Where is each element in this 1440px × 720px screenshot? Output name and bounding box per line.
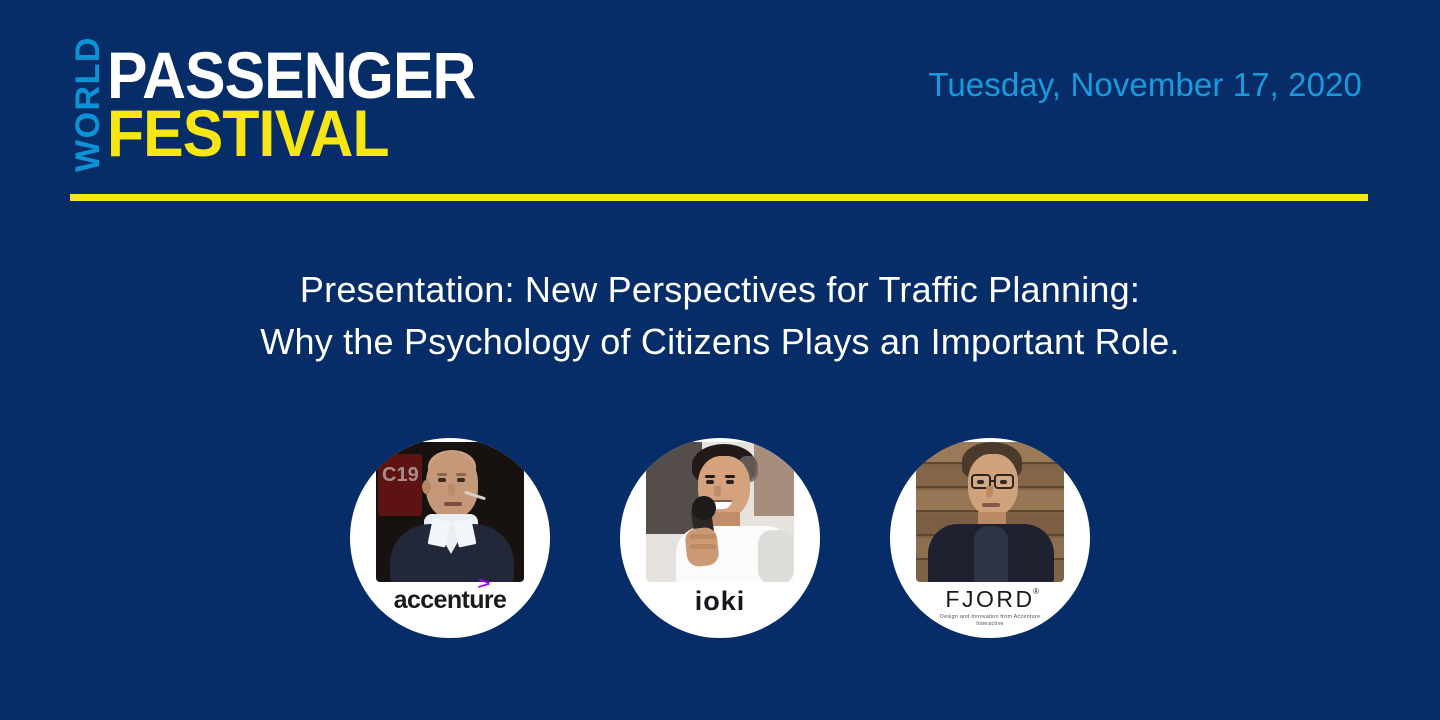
- speaker-card-fjord: FJORD ® Design and Innovation from Accen…: [890, 438, 1090, 638]
- logo-word-world: WORLD: [70, 34, 106, 174]
- portrait-nose: [714, 486, 721, 497]
- portrait-nose: [986, 486, 993, 498]
- portrait-finger-1: [690, 534, 716, 539]
- ioki-logo: ioki: [695, 588, 746, 615]
- portrait-brow-left: [437, 473, 447, 476]
- logo-word-festival: FESTIVAL: [107, 106, 476, 160]
- stage-backdrop-text: C19: [382, 464, 419, 487]
- photo-background-warm: [754, 442, 794, 516]
- brand-logo-area-accenture: accenture >: [350, 582, 550, 638]
- portrait-mouth: [982, 503, 1000, 507]
- brand-logo-area-fjord: FJORD ® Design and Innovation from Accen…: [890, 582, 1090, 638]
- portrait-brow-left: [705, 475, 715, 478]
- portrait-eye-right: [726, 480, 734, 484]
- portrait-eye-left: [977, 480, 984, 484]
- speaker-photo-fjord: [916, 442, 1064, 582]
- portrait-tshirt: [974, 526, 1008, 582]
- portrait-eye-right: [1000, 480, 1007, 484]
- portrait-eye-left: [706, 480, 714, 484]
- speaker-card-ioki: ioki: [620, 438, 820, 638]
- portrait-ear: [422, 480, 431, 494]
- speaker-avatar-row: C19 accenture >: [0, 438, 1440, 638]
- presentation-title: Presentation: New Perspectives for Traff…: [0, 264, 1440, 368]
- portrait-brow-right: [456, 473, 466, 476]
- event-slide: WORLD PASSENGER FESTIVAL Tuesday, Novemb…: [0, 0, 1440, 720]
- portrait-shirt-shadow: [758, 530, 794, 582]
- accenture-logo-text: accenture: [394, 586, 507, 614]
- speaker-photo-ioki: [646, 442, 794, 582]
- fjord-logo: FJORD ®: [945, 588, 1034, 611]
- logo-word-passenger: PASSENGER: [107, 48, 476, 102]
- portrait-eye-left: [438, 478, 446, 482]
- presentation-title-line-2: Why the Psychology of Citizens Plays an …: [0, 316, 1440, 368]
- fjord-logo-text: FJORD: [945, 586, 1034, 612]
- event-date: Tuesday, November 17, 2020: [928, 66, 1362, 104]
- brand-logo-area-ioki: ioki: [620, 582, 820, 638]
- accenture-arrow-icon: >: [477, 575, 491, 592]
- registered-trademark-icon: ®: [1033, 588, 1041, 596]
- eyeglasses-bridge-icon: [991, 480, 994, 482]
- portrait-finger-2: [690, 544, 716, 549]
- portrait-nose: [448, 484, 455, 496]
- world-passenger-festival-logo: WORLD PASSENGER FESTIVAL: [70, 34, 508, 174]
- yellow-divider-rule: [70, 194, 1368, 201]
- slide-header: WORLD PASSENGER FESTIVAL Tuesday, Novemb…: [0, 0, 1440, 215]
- speaker-photo-accenture: C19: [376, 442, 524, 582]
- presentation-title-line-1: Presentation: New Perspectives for Traff…: [0, 264, 1440, 316]
- portrait-brow-right: [725, 475, 735, 478]
- portrait-eye-right: [457, 478, 465, 482]
- fjord-logo-subtitle: Design and Innovation from Accenture Int…: [930, 614, 1050, 628]
- portrait-mouth: [444, 502, 462, 506]
- speaker-card-accenture: C19 accenture >: [350, 438, 550, 638]
- accenture-logo: accenture >: [394, 588, 507, 613]
- logo-wordmark: PASSENGER FESTIVAL: [107, 34, 508, 174]
